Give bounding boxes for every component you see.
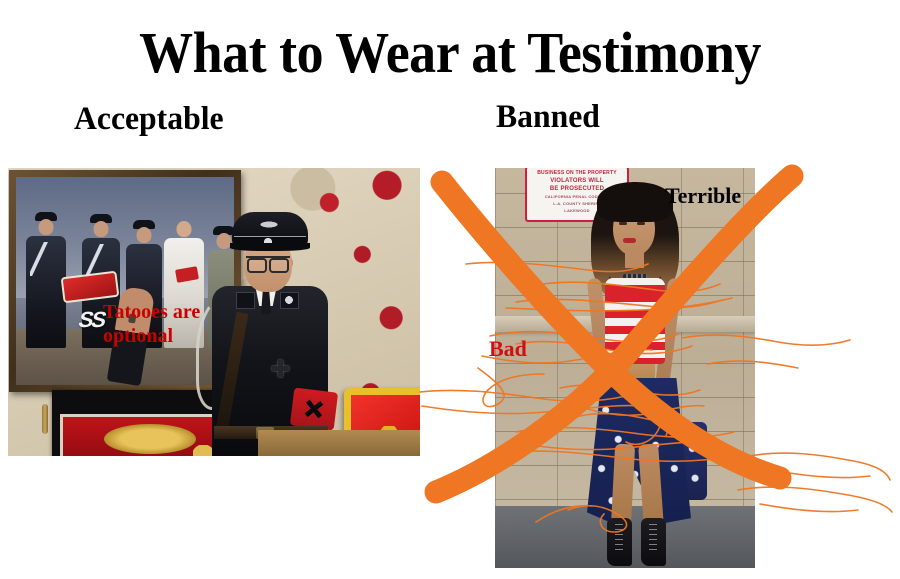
- eyeglasses-icon: [246, 256, 290, 269]
- banner-pole: [42, 404, 48, 434]
- figure-head: [177, 221, 192, 237]
- boot-right: [641, 518, 666, 566]
- annotation-terrible: Terrible: [665, 184, 741, 208]
- annotation-tattoos-are-optional: Tatooes are optional: [103, 300, 223, 348]
- insignia-icon: [300, 395, 328, 423]
- eye-left: [619, 222, 627, 225]
- figure-sash: [30, 242, 48, 276]
- column-header-banned: Banned: [496, 98, 600, 136]
- uniformed-man: [206, 212, 332, 456]
- painted-figure: [26, 236, 66, 348]
- figure-head: [39, 219, 54, 235]
- leg-left: [611, 444, 635, 529]
- page-title: What to Wear at Testimony: [32, 22, 869, 84]
- boot-left: [607, 518, 632, 566]
- sign-line-1: BUSINESS ON THE PROPERTY: [530, 170, 624, 177]
- banner-emblem: [104, 424, 196, 454]
- eye-right: [637, 222, 645, 225]
- flag-stripe-crop-top: [605, 278, 665, 364]
- figure-head: [137, 227, 152, 243]
- cap-brim: [230, 243, 310, 251]
- hair-front: [597, 182, 673, 222]
- lips: [623, 238, 636, 243]
- collar-tab-right: [280, 292, 299, 309]
- armband: [290, 387, 338, 430]
- collar-tab-left: [236, 292, 255, 309]
- woman-in-flag-outfit: [557, 182, 707, 568]
- column-header-acceptable: Acceptable: [74, 100, 224, 138]
- figure-head: [94, 221, 109, 237]
- photo-banned: BUSINESS ON THE PROPERTY VIOLATORS WILL …: [495, 168, 755, 568]
- cap-eagle-icon: [256, 220, 282, 229]
- wood-floor: [258, 430, 420, 456]
- annotation-bad: Bad: [489, 337, 527, 361]
- iron-cross-icon: [272, 360, 289, 377]
